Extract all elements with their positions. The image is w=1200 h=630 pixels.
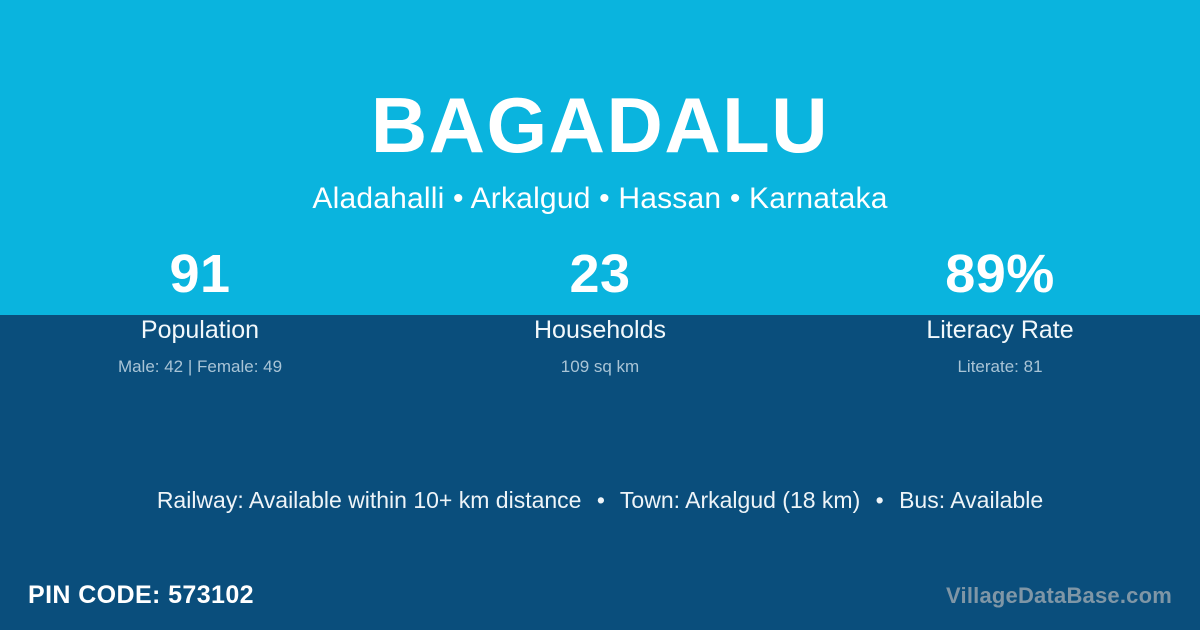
stat-label: Households [400,315,800,345]
stat-label: Literacy Rate [800,315,1200,345]
village-info-card: BAGADALU Aladahalli • Arkalgud • Hassan … [0,0,1200,630]
amenity-railway: Railway: Available within 10+ km distanc… [157,487,582,513]
stat-value: 91 [0,243,400,305]
stat-label: Population [0,315,400,345]
site-watermark: VillageDataBase.com [946,582,1172,610]
amenity-separator: • [867,487,893,513]
stat-value: 23 [400,243,800,305]
stat-sublabel: Male: 42 | Female: 49 [0,356,400,378]
stat-literacy-rate: 89% Literacy Rate Literate: 81 [800,243,1200,378]
statistics-row: 91 Population Male: 42 | Female: 49 23 H… [0,243,1200,378]
stat-sublabel: Literate: 81 [800,356,1200,378]
stat-value: 89% [800,243,1200,305]
stat-households: 23 Households 109 sq km [400,243,800,378]
card-footer: PIN CODE: 573102 VillageDataBase.com [0,575,1200,630]
amenities-line: Railway: Available within 10+ km distanc… [0,485,1200,515]
amenity-town: Town: Arkalgud (18 km) [620,487,860,513]
stat-sublabel: 109 sq km [400,356,800,378]
page-title: BAGADALU [0,0,1200,168]
breadcrumb: Aladahalli • Arkalgud • Hassan • Karnata… [0,168,1200,217]
amenity-bus: Bus: Available [899,487,1043,513]
stat-population: 91 Population Male: 42 | Female: 49 [0,243,400,378]
card-header: BAGADALU Aladahalli • Arkalgud • Hassan … [0,0,1200,217]
amenity-separator: • [588,487,614,513]
pin-code-label: PIN CODE: 573102 [28,580,254,610]
